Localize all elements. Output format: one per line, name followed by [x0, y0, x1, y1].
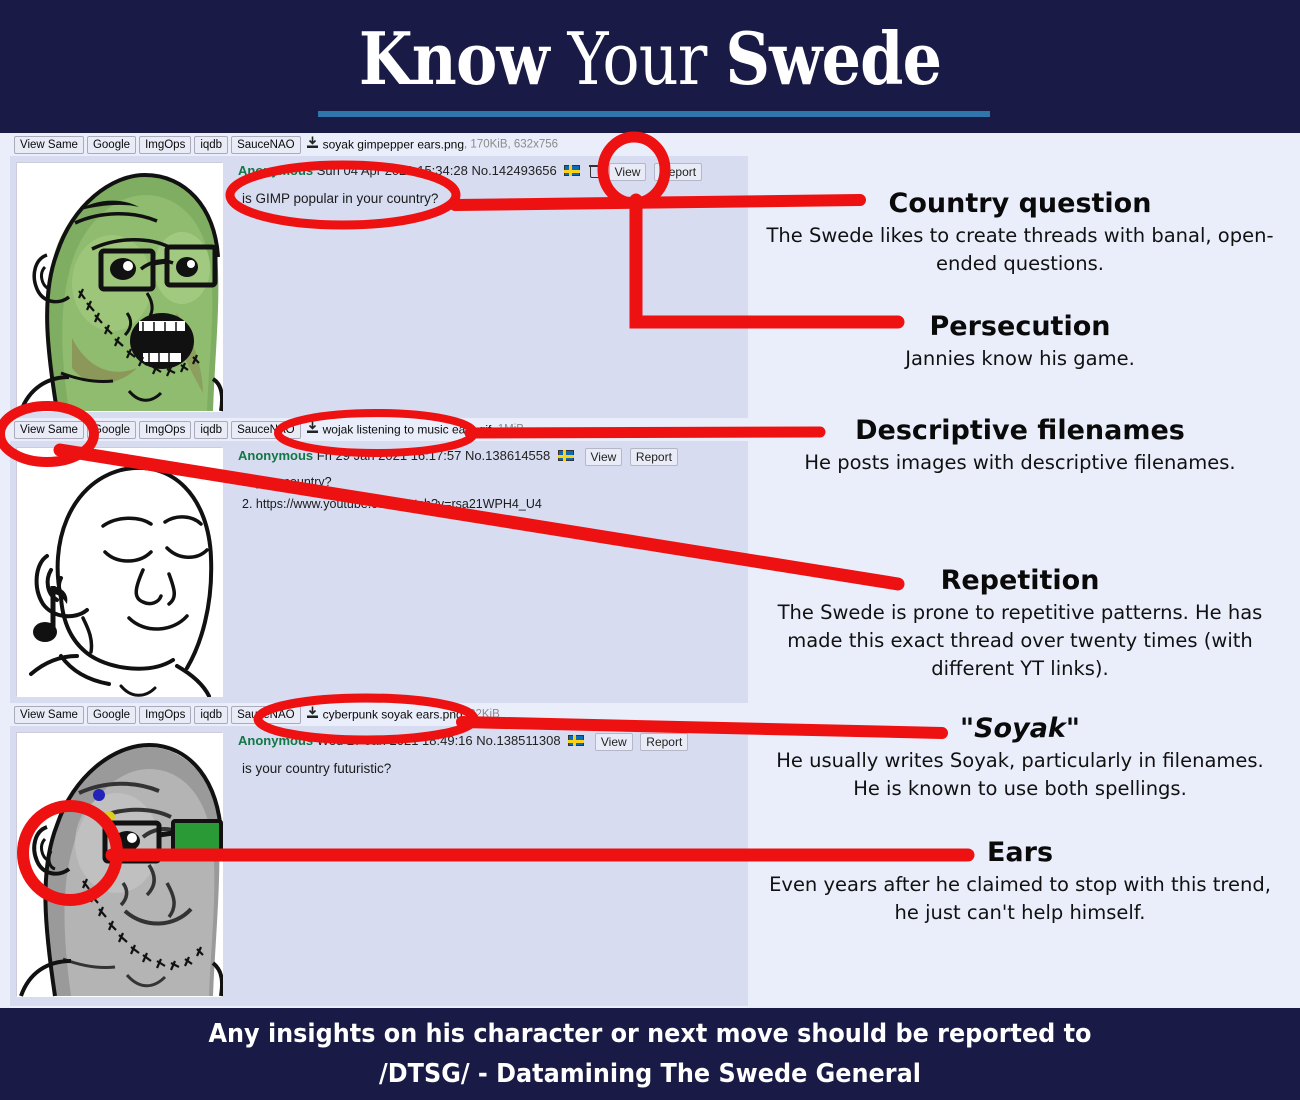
post-2-thumbnail[interactable] — [16, 447, 222, 696]
view-same-button[interactable]: View Same — [14, 706, 84, 724]
imgops-button[interactable]: ImgOps — [139, 421, 191, 439]
iqdb-button[interactable]: iqdb — [194, 136, 228, 154]
google-button[interactable]: Google — [87, 421, 136, 439]
post-2-comment-line-2[interactable]: 2. https://www.youtube.com/watch?v=rsa21… — [242, 493, 542, 515]
annotation-repetition: Repetition The Swede is prone to repetit… — [760, 565, 1280, 683]
main-content: View SameGoogleImgOpsiqdbSauceNAOsoyak g… — [0, 133, 1300, 1008]
imageboard-column: View SameGoogleImgOpsiqdbSauceNAOsoyak g… — [10, 133, 748, 1003]
post-3-thumbnail[interactable] — [16, 732, 222, 996]
post-2-comment-line-1: 1. your country? — [242, 471, 332, 493]
annotation-country-question: Country question The Swede likes to crea… — [760, 188, 1280, 278]
post-1-header-line: Anonymous Sun 04 Apr 2021 15:34:28 No.14… — [238, 162, 702, 181]
post-2-header-line: Anonymous Fri 29 Jan 2021 16:17:57 No.13… — [238, 447, 678, 466]
post-2-author: Anonymous — [238, 448, 313, 463]
post-1-view-button[interactable]: View — [609, 163, 647, 181]
annotation-body: The Swede likes to create threads with b… — [765, 222, 1275, 278]
imgops-button[interactable]: ImgOps — [139, 706, 191, 724]
post-2: View SameGoogleImgOpsiqdbSauceNAOwojak l… — [10, 418, 748, 703]
swedish-flag-icon — [564, 165, 580, 176]
post-1-filemeta: , 170KiB, 632x756 — [464, 139, 558, 151]
post-1-comment-line-1: is GIMP popular in your country? — [242, 188, 438, 210]
post-3-report-button[interactable]: Report — [640, 733, 688, 751]
page-footer: Any insights on his character or next mo… — [0, 1008, 1300, 1100]
post-3-comment-line-1: is your country futuristic? — [242, 758, 391, 780]
title-word-your: Your — [568, 17, 707, 101]
annotation-heading: Country question — [760, 188, 1280, 220]
trash-icon[interactable] — [589, 164, 601, 177]
annotation-heading: Ears — [760, 837, 1280, 869]
annotation-heading: Persecution — [760, 311, 1280, 343]
google-button[interactable]: Google — [87, 136, 136, 154]
iqdb-button[interactable]: iqdb — [194, 706, 228, 724]
annotation-soyak: "Soyak" He usually writes Soyak, particu… — [760, 713, 1280, 803]
annotation-body: He usually writes Soyak, particularly in… — [765, 747, 1275, 803]
page-title: Know Your Swede — [91, 20, 1209, 98]
google-button[interactable]: Google — [87, 706, 136, 724]
post-3: View SameGoogleImgOpsiqdbSauceNAOcyberpu… — [10, 703, 748, 1003]
download-icon[interactable] — [306, 706, 319, 724]
post-3-author: Anonymous — [238, 733, 313, 748]
post-3-view-button[interactable]: View — [595, 733, 633, 751]
post-1-filename[interactable]: soyak gimpepper ears.png — [323, 138, 464, 152]
page-header: Know Your Swede — [0, 0, 1300, 133]
post-1-datetime: Sun 04 Apr 2021 15:34:28 — [317, 163, 468, 178]
footer-line-2: /DTSG/ - Datamining The Swede General — [379, 1059, 921, 1089]
footer-line-1: Any insights on his character or next mo… — [208, 1019, 1091, 1049]
post-1-thumbnail[interactable] — [16, 162, 222, 411]
annotation-heading: Descriptive filenames — [760, 415, 1280, 447]
annotation-body: He posts images with descriptive filenam… — [760, 449, 1280, 477]
post-1: View SameGoogleImgOpsiqdbSauceNAOsoyak g… — [10, 133, 748, 418]
title-underline-rule — [318, 111, 990, 117]
post-3-header-line: Anonymous Wed 27 Jan 2021 18:49:16 No.13… — [238, 732, 688, 751]
annotation-body: The Swede is prone to repetitive pattern… — [765, 599, 1275, 683]
swedish-flag-icon — [568, 735, 584, 746]
imgops-button[interactable]: ImgOps — [139, 136, 191, 154]
post-3-file-toolbar: View SameGoogleImgOpsiqdbSauceNAOcyberpu… — [10, 703, 748, 726]
post-2-filemeta: , 1MiB — [491, 424, 524, 436]
post-2-file-toolbar: View SameGoogleImgOpsiqdbSauceNAOwojak l… — [10, 418, 748, 441]
annotation-heading: "Soyak" — [760, 713, 1280, 745]
post-3-filemeta: , 32KiB — [463, 709, 500, 721]
annotation-descriptive-filenames: Descriptive filenames He posts images wi… — [760, 415, 1280, 477]
footer-text: Any insights on his character or next mo… — [52, 1008, 1248, 1094]
swedish-flag-icon — [558, 450, 574, 461]
saucenao-button[interactable]: SauceNAO — [231, 706, 301, 724]
download-icon[interactable] — [306, 136, 319, 154]
view-same-button[interactable]: View Same — [14, 136, 84, 154]
post-3-filename[interactable]: cyberpunk soyak ears.png — [323, 708, 463, 722]
annotation-body: Jannies know his game. — [760, 345, 1280, 373]
annotation-body: Even years after he claimed to stop with… — [765, 871, 1275, 927]
annotation-persecution: Persecution Jannies know his game. — [760, 311, 1280, 373]
post-1-number[interactable]: No.142493656 — [471, 163, 556, 178]
post-2-datetime: Fri 29 Jan 2021 16:17:57 — [317, 448, 462, 463]
post-2-view-button[interactable]: View — [585, 448, 623, 466]
post-1-author: Anonymous — [238, 163, 313, 178]
view-same-button[interactable]: View Same — [14, 421, 84, 439]
post-3-datetime: Wed 27 Jan 2021 18:49:16 — [317, 733, 473, 748]
title-word-know: Know — [359, 16, 549, 101]
iqdb-button[interactable]: iqdb — [194, 421, 228, 439]
saucenao-button[interactable]: SauceNAO — [231, 136, 301, 154]
post-2-report-button[interactable]: Report — [630, 448, 678, 466]
annotation-heading: Repetition — [760, 565, 1280, 597]
post-2-number[interactable]: No.138614558 — [465, 448, 550, 463]
saucenao-button[interactable]: SauceNAO — [231, 421, 301, 439]
title-word-swede: Swede — [725, 16, 941, 101]
post-1-file-toolbar: View SameGoogleImgOpsiqdbSauceNAOsoyak g… — [10, 133, 748, 156]
post-2-filename[interactable]: wojak listening to music ears.gif — [323, 423, 492, 437]
download-icon[interactable] — [306, 421, 319, 439]
post-1-report-button[interactable]: Report — [654, 163, 702, 181]
annotation-ears: Ears Even years after he claimed to stop… — [760, 837, 1280, 927]
post-3-number[interactable]: No.138511308 — [476, 733, 560, 748]
